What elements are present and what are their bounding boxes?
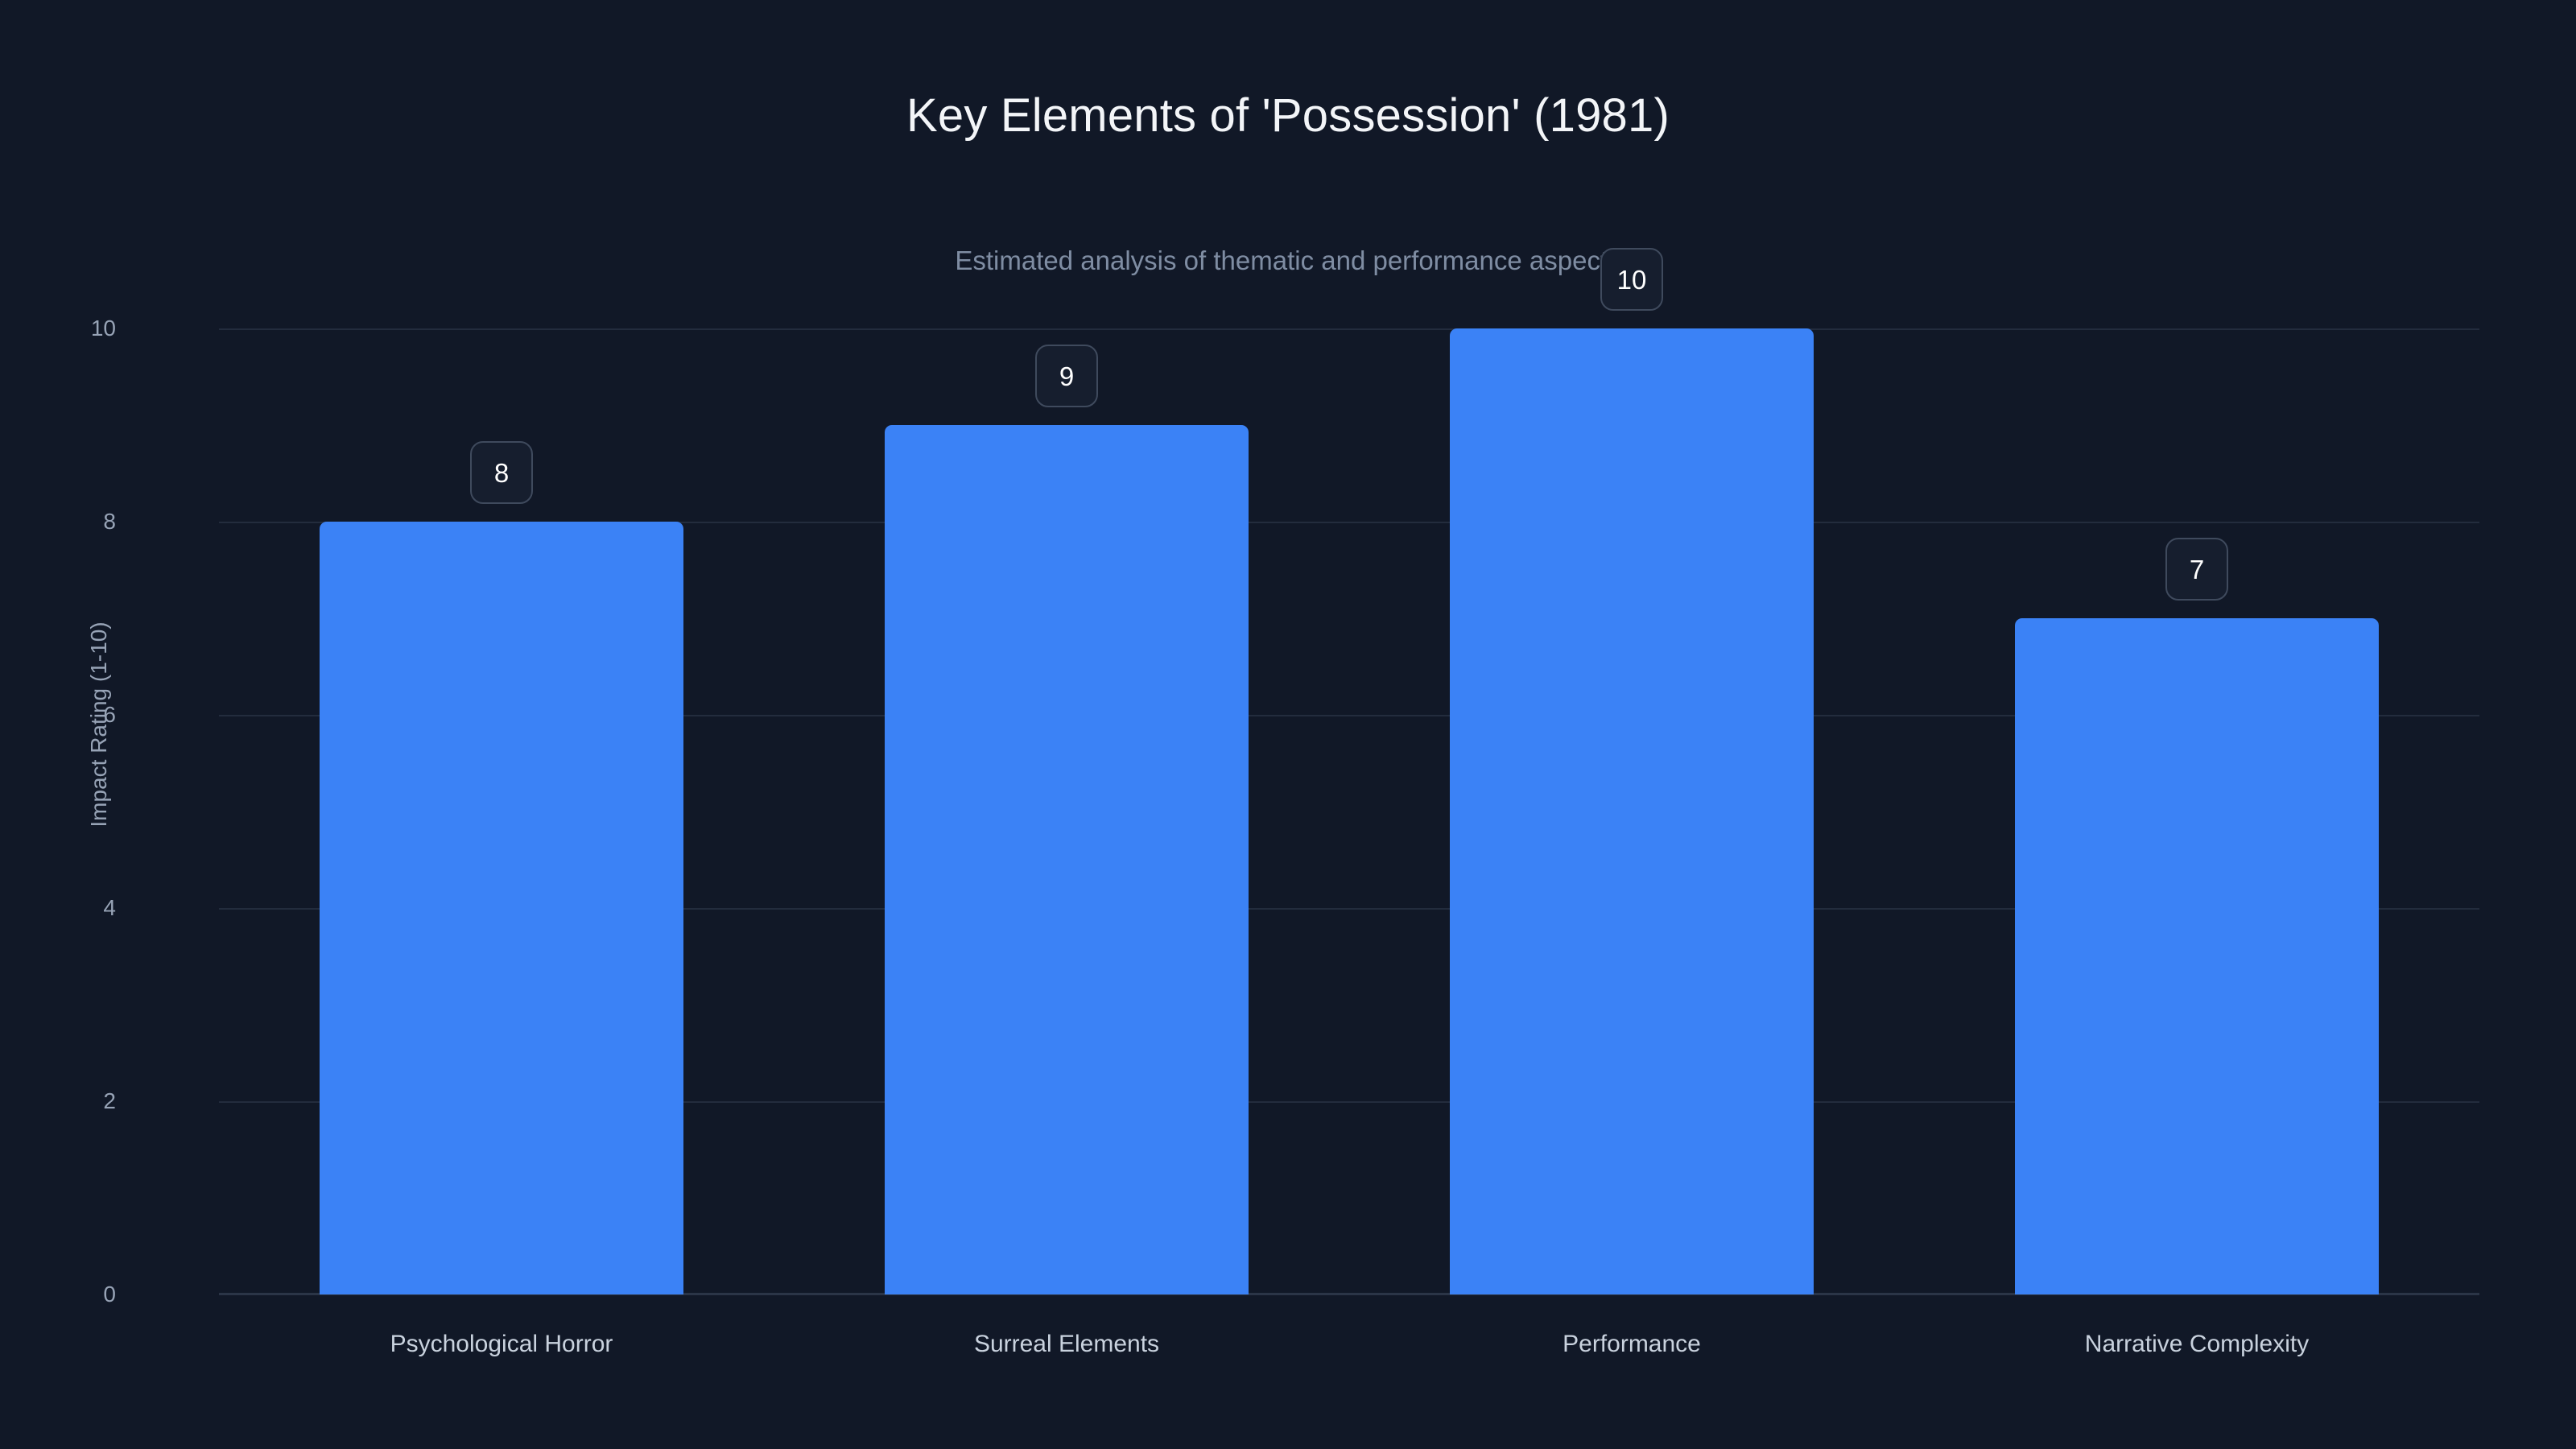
value-badge: 10 — [1600, 248, 1663, 311]
y-tick-label: 4 — [19, 895, 116, 921]
bar-3[interactable] — [1450, 328, 1814, 1294]
x-tick-label: Surreal Elements — [974, 1331, 1159, 1358]
y-tick-label: 0 — [19, 1282, 116, 1307]
y-tick-label: 8 — [19, 509, 116, 535]
y-tick-label: 2 — [19, 1088, 116, 1114]
x-tick-label: Narrative Complexity — [2085, 1331, 2309, 1358]
bar-1[interactable] — [320, 522, 683, 1294]
bar-2[interactable] — [885, 425, 1249, 1294]
y-tick-label: 10 — [19, 316, 116, 341]
chart-title: Key Elements of 'Possession' (1981) — [0, 90, 2576, 142]
gridline — [219, 328, 2479, 330]
x-tick-label: Performance — [1563, 1331, 1701, 1358]
plot-area — [219, 328, 2479, 1294]
value-badge: 9 — [1035, 345, 1098, 407]
value-badge: 8 — [470, 441, 533, 504]
value-badge: 7 — [2165, 538, 2228, 601]
bar-4[interactable] — [2015, 618, 2379, 1294]
x-tick-label: Psychological Horror — [390, 1331, 613, 1358]
chart-subtitle: Estimated analysis of thematic and perfo… — [0, 246, 2576, 275]
y-tick-label: 6 — [19, 702, 116, 728]
bar-chart-canvas: Key Elements of 'Possession' (1981) Esti… — [0, 0, 2576, 1449]
